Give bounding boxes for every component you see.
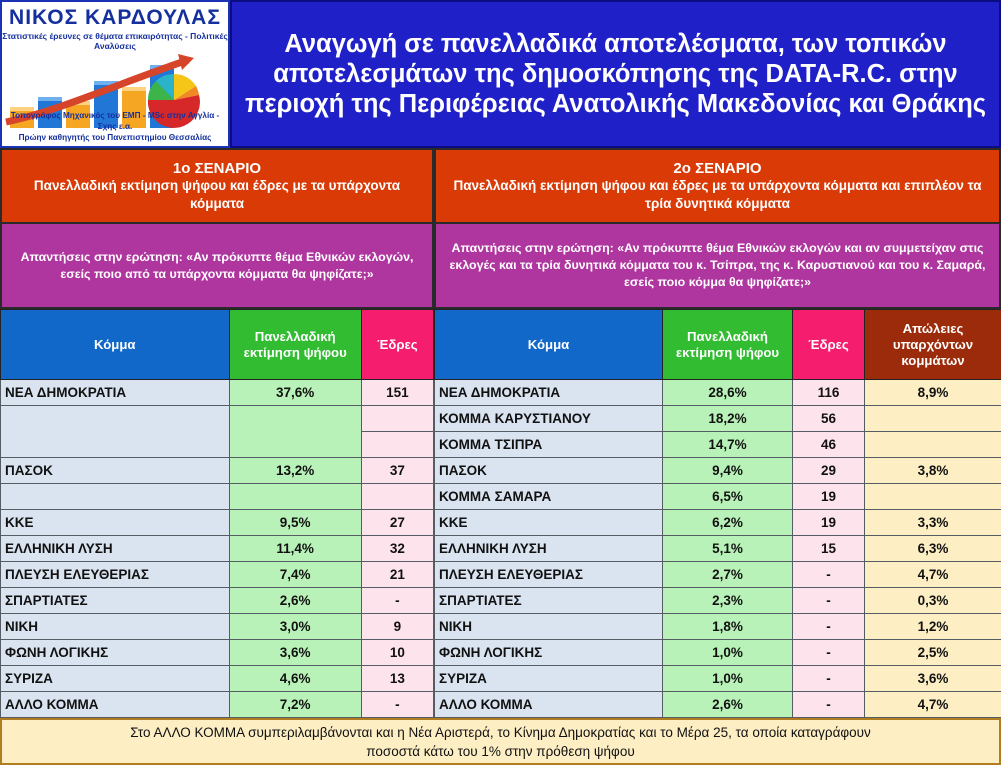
cell-seats: 13 [361,666,433,692]
cell-seats: 116 [793,380,865,406]
table-row: ΠΛΕΥΣΗ ΕΛΕΥΘΕΡΙΑΣ 2,7% - 4,7% [435,562,1001,588]
cell-estimate: 7,4% [229,562,361,588]
cell-party: ΚΟΜΜΑ ΤΣΙΠΡΑ [435,432,663,458]
table-row: ΕΛΛΗΝΙΚΗ ΛΥΣΗ 5,1% 15 6,3% [435,536,1001,562]
cell-party: ΑΛΛΟ ΚΟΜΜΑ [435,692,663,718]
footnote: Στο ΑΛΛΟ ΚΟΜΜΑ συμπεριλαμβάνονται και η … [0,718,1001,765]
cell-estimate: 6,5% [663,484,793,510]
table-row: ΕΛΛΗΝΙΚΗ ΛΥΣΗ 11,4% 32 [1,536,434,562]
cell-party: ΠΛΕΥΣΗ ΕΛΕΥΘΕΡΙΑΣ [1,562,230,588]
logo-credentials-line2: Πρώην καθηγητής του Πανεπιστημίου Θεσσαλ… [2,132,228,143]
cell-estimate [229,484,361,510]
cell-estimate: 13,2% [229,458,361,484]
cell-seats: - [793,692,865,718]
cell-estimate: 3,0% [229,614,361,640]
cell-party: ΦΩΝΗ ΛΟΓΙΚΗΣ [1,640,230,666]
cell-seats: 10 [361,640,433,666]
cell-seats: 56 [793,406,865,432]
results-tables: Κόμμα Πανελλαδική εκτίμηση ψήφου Έδρες Ν… [0,309,1001,718]
page-header: ΝΙΚΟΣ ΚΑΡΔΟΥΛΑΣ Στατιστικές έρευνες σε θ… [0,0,1001,148]
cell-seats [361,432,433,458]
cell-seats: 19 [793,510,865,536]
cell-losses: 3,8% [865,458,1001,484]
table-row [1,406,434,432]
table-row: ΠΑΣΟΚ 9,4% 29 3,8% [435,458,1001,484]
cell-party: ΠΑΣΟΚ [435,458,663,484]
cell-party: ΚΟΜΜΑ ΣΑΜΑΡΑ [435,484,663,510]
scenario-2-table-wrapper: Κόμμα Πανελλαδική εκτίμηση ψήφου Έδρες Α… [434,309,1001,718]
logo-credentials-line1: Τοπογράφος Μηχανικός του ΕΜΠ - MSc στην … [2,110,228,132]
cell-party: ΕΛΛΗΝΙΚΗ ΛΥΣΗ [1,536,230,562]
cell-seats: - [361,692,433,718]
cell-estimate: 4,6% [229,666,361,692]
cell-party: ΝΙΚΗ [435,614,663,640]
cell-losses: 6,3% [865,536,1001,562]
cell-seats: 29 [793,458,865,484]
scenario-1-table: Κόμμα Πανελλαδική εκτίμηση ψήφου Έδρες Ν… [0,309,434,718]
footnote-line2: ποσοστά κάτω του 1% στην πρόθεση ψήφου [366,744,634,759]
table-row: ΝΕΑ ΔΗΜΟΚΡΑΤΙΑ 28,6% 116 8,9% [435,380,1001,406]
page-title: Αναγωγή σε πανελλαδικά αποτελέσματα, των… [240,29,991,119]
cell-party: ΚΚΕ [435,510,663,536]
cell-party: ΣΠΑΡΤΙΑΤΕΣ [1,588,230,614]
table-row [1,484,434,510]
cell-party: ΠΑΣΟΚ [1,458,230,484]
scenario-2-question-box: Απαντήσεις στην ερώτηση: «Αν πρόκυπτε θέ… [434,224,1001,309]
cell-losses: 3,3% [865,510,1001,536]
cell-seats: - [361,588,433,614]
cell-losses [865,406,1001,432]
scenario-1-question-box: Απαντήσεις στην ερώτηση: «Αν πρόκυπτε θέ… [0,224,434,309]
table-row: ΑΛΛΟ ΚΟΜΜΑ 7,2% - [1,692,434,718]
table-row: ΚΟΜΜΑ ΣΑΜΑΡΑ 6,5% 19 [435,484,1001,510]
cell-losses: 4,7% [865,692,1001,718]
table-row: ΚΟΜΜΑ ΚΑΡΥΣΤΙΑΝΟΥ 18,2% 56 [435,406,1001,432]
cell-seats: 151 [361,380,433,406]
table-row: ΣΠΑΡΤΙΑΤΕΣ 2,3% - 0,3% [435,588,1001,614]
cell-losses: 0,3% [865,588,1001,614]
cell-estimate: 7,2% [229,692,361,718]
footnote-line1: Στο ΑΛΛΟ ΚΟΜΜΑ συμπεριλαμβάνονται και η … [130,725,871,740]
cell-estimate: 3,6% [229,640,361,666]
cell-party: ΣΠΑΡΤΙΑΤΕΣ [435,588,663,614]
cell-party: ΣΥΡΙΖΑ [1,666,230,692]
cell-estimate: 2,3% [663,588,793,614]
col-header-losses: Απώλειες υπαρχόντων κομμάτων [865,310,1001,380]
cell-party: ΦΩΝΗ ΛΟΓΙΚΗΣ [435,640,663,666]
col-header-seats: Έδρες [793,310,865,380]
cell-estimate: 5,1% [663,536,793,562]
col-header-estimate: Πανελλαδική εκτίμηση ψήφου [663,310,793,380]
cell-losses: 4,7% [865,562,1001,588]
col-header-party: Κόμμα [1,310,230,380]
cell-estimate: 2,6% [663,692,793,718]
cell-party: ΝΕΑ ΔΗΜΟΚΡΑΤΙΑ [435,380,663,406]
scenario-questions-row: Απαντήσεις στην ερώτηση: «Αν πρόκυπτε θέ… [0,224,1001,309]
cell-party: ΠΛΕΥΣΗ ΕΛΕΥΘΕΡΙΑΣ [435,562,663,588]
scenario-2-description: Πανελλαδική εκτίμηση ψήφου και έδρες με … [453,178,981,211]
table-row: ΚΟΜΜΑ ΤΣΙΠΡΑ 14,7% 46 [435,432,1001,458]
cell-seats: 21 [361,562,433,588]
table-header-row: Κόμμα Πανελλαδική εκτίμηση ψήφου Έδρες [1,310,434,380]
cell-estimate [229,406,361,458]
table-row: ΠΑΣΟΚ 13,2% 37 [1,458,434,484]
cell-estimate: 18,2% [663,406,793,432]
cell-seats: 15 [793,536,865,562]
cell-seats: 9 [361,614,433,640]
cell-seats: - [793,562,865,588]
scenario-labels-row: 1ο ΣΕΝΑΡΙΟ Πανελλαδική εκτίμηση ψήφου κα… [0,148,1001,224]
cell-seats [361,406,433,432]
poll-results-page: ΝΙΚΟΣ ΚΑΡΔΟΥΛΑΣ ΝΙΚΟΣ ΚΑΡΔΟΥΛΑΣ ΝΙΚΟΣ ΚΑ… [0,0,1001,749]
cell-party: ΣΥΡΙΖΑ [435,666,663,692]
cell-estimate: 1,0% [663,640,793,666]
table-row: ΣΥΡΙΖΑ 1,0% - 3,6% [435,666,1001,692]
cell-seats: - [793,614,865,640]
title-banner: Αναγωγή σε πανελλαδικά αποτελέσματα, των… [230,0,1001,148]
cell-party: ΕΛΛΗΝΙΚΗ ΛΥΣΗ [435,536,663,562]
logo-credentials: Τοπογράφος Μηχανικός του ΕΜΠ - MSc στην … [2,110,228,143]
cell-estimate: 9,5% [229,510,361,536]
cell-estimate: 14,7% [663,432,793,458]
cell-losses: 8,9% [865,380,1001,406]
scenario-2-table: Κόμμα Πανελλαδική εκτίμηση ψήφου Έδρες Α… [434,309,1001,718]
cell-seats: 19 [793,484,865,510]
table-header-row: Κόμμα Πανελλαδική εκτίμηση ψήφου Έδρες Α… [435,310,1001,380]
cell-party [1,406,230,458]
cell-estimate: 6,2% [663,510,793,536]
cell-seats: - [793,640,865,666]
cell-estimate: 11,4% [229,536,361,562]
scenario-1-description: Πανελλαδική εκτίμηση ψήφου και έδρες με … [34,178,400,211]
cell-seats: - [793,666,865,692]
col-header-party: Κόμμα [435,310,663,380]
table-row: ΦΩΝΗ ΛΟΓΙΚΗΣ 3,6% 10 [1,640,434,666]
cell-seats: 27 [361,510,433,536]
table-row: ΝΙΚΗ 3,0% 9 [1,614,434,640]
cell-seats: 46 [793,432,865,458]
cell-estimate: 1,0% [663,666,793,692]
cell-losses [865,432,1001,458]
cell-losses [865,484,1001,510]
cell-seats [361,484,433,510]
cell-seats: 32 [361,536,433,562]
cell-estimate: 2,6% [229,588,361,614]
cell-party: ΑΛΛΟ ΚΟΜΜΑ [1,692,230,718]
cell-estimate: 28,6% [663,380,793,406]
cell-seats: 37 [361,458,433,484]
cell-estimate: 2,7% [663,562,793,588]
col-header-seats: Έδρες [361,310,433,380]
cell-party [1,484,230,510]
table-row: ΝΕΑ ΔΗΜΟΚΡΑΤΙΑ 37,6% 151 [1,380,434,406]
cell-party: ΚΟΜΜΑ ΚΑΡΥΣΤΙΑΝΟΥ [435,406,663,432]
cell-seats: - [793,588,865,614]
scenario-2-question: Απαντήσεις στην ερώτηση: «Αν πρόκυπτε θέ… [444,240,991,291]
logo: ΝΙΚΟΣ ΚΑΡΔΟΥΛΑΣ Στατιστικές έρευνες σε θ… [0,0,230,148]
col-header-estimate: Πανελλαδική εκτίμηση ψήφου [229,310,361,380]
table-row: ΣΠΑΡΤΙΑΤΕΣ 2,6% - [1,588,434,614]
scenario-1-label: 1ο ΣΕΝΑΡΙΟ [173,160,261,177]
table-row: ΣΥΡΙΖΑ 4,6% 13 [1,666,434,692]
table-row: ΑΛΛΟ ΚΟΜΜΑ 2,6% - 4,7% [435,692,1001,718]
table-row: ΚΚΕ 9,5% 27 [1,510,434,536]
scenario-2-header: 2ο ΣΕΝΑΡΙΟ Πανελλαδική εκτίμηση ψήφου κα… [434,148,1001,224]
cell-estimate: 37,6% [229,380,361,406]
table-row: ΝΙΚΗ 1,8% - 1,2% [435,614,1001,640]
scenario-1-header: 1ο ΣΕΝΑΡΙΟ Πανελλαδική εκτίμηση ψήφου κα… [0,148,434,224]
cell-party: ΝΙΚΗ [1,614,230,640]
scenario-1-table-wrapper: Κόμμα Πανελλαδική εκτίμηση ψήφου Έδρες Ν… [0,309,434,718]
logo-subtitle: Στατιστικές έρευνες σε θέματα επικαιρότη… [2,31,228,51]
cell-estimate: 1,8% [663,614,793,640]
scenario-1-question: Απαντήσεις στην ερώτηση: «Αν πρόκυπτε θέ… [10,249,424,283]
table-row: ΠΛΕΥΣΗ ΕΛΕΥΘΕΡΙΑΣ 7,4% 21 [1,562,434,588]
cell-party: ΚΚΕ [1,510,230,536]
table-row: ΚΚΕ 6,2% 19 3,3% [435,510,1001,536]
cell-losses: 3,6% [865,666,1001,692]
cell-losses: 1,2% [865,614,1001,640]
table-row: ΦΩΝΗ ΛΟΓΙΚΗΣ 1,0% - 2,5% [435,640,1001,666]
cell-losses: 2,5% [865,640,1001,666]
cell-party: ΝΕΑ ΔΗΜΟΚΡΑΤΙΑ [1,380,230,406]
scenario-2-label: 2ο ΣΕΝΑΡΙΟ [673,160,761,177]
cell-estimate: 9,4% [663,458,793,484]
logo-name: ΝΙΚΟΣ ΚΑΡΔΟΥΛΑΣ [2,6,228,30]
